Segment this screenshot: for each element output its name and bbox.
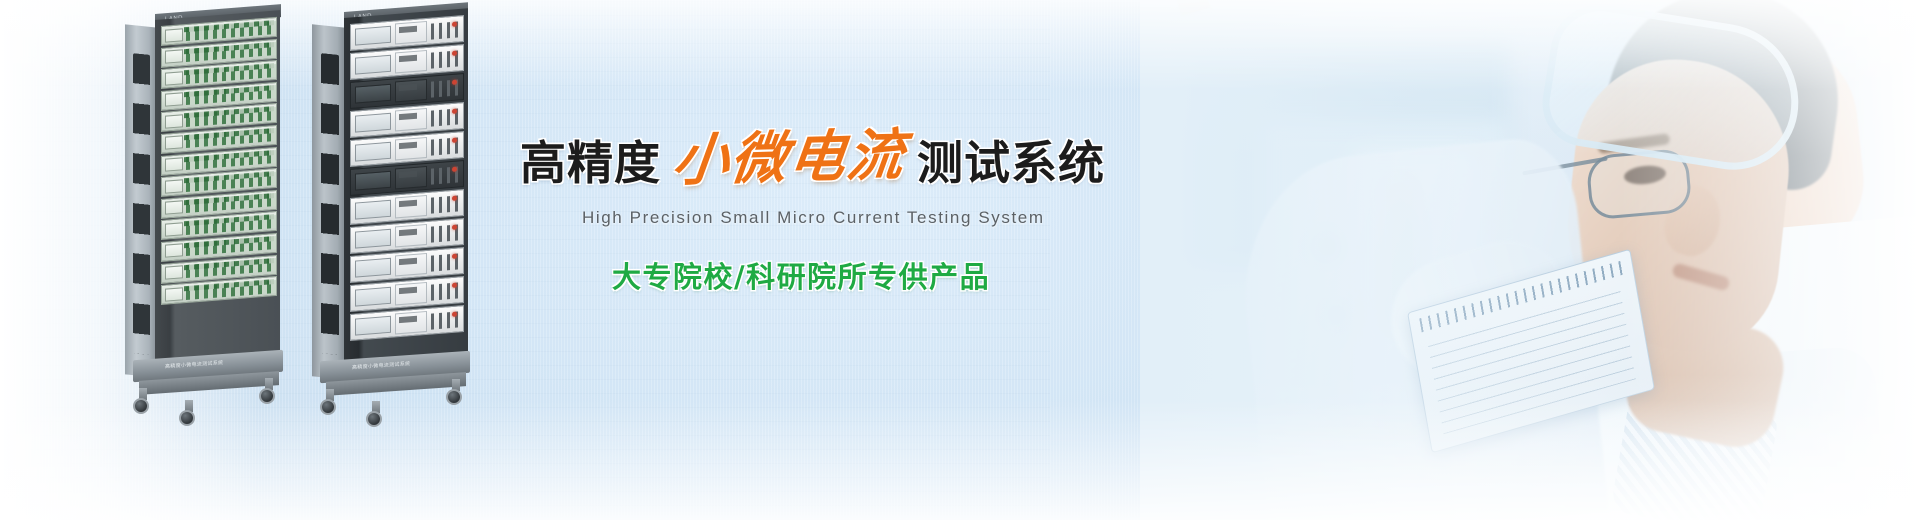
unit-panel	[395, 108, 427, 132]
equipment-rack-right: LAND 高精度小微电流测试系统	[312, 18, 467, 413]
unit-panel	[395, 195, 427, 219]
unit-display-icon	[165, 201, 183, 215]
unit-panel	[395, 79, 427, 103]
unit-panel	[395, 282, 427, 306]
unit-display-icon	[355, 258, 391, 278]
unit-panel	[395, 253, 427, 277]
rack-left-vent-holes	[133, 53, 150, 355]
banner-tagline: 大专院校/科研院所专供产品	[612, 254, 1160, 296]
unit-display-icon	[355, 287, 391, 307]
unit-panel	[395, 311, 427, 335]
rack-left-caster	[133, 398, 149, 414]
unit-display-icon	[165, 222, 183, 236]
top-edge-fade	[0, 0, 1920, 90]
rack-right-caster	[320, 399, 336, 415]
unit-display-icon	[165, 28, 183, 42]
unit-display-icon	[355, 200, 391, 220]
unit-display-icon	[165, 244, 183, 258]
banner-subtitle-english: High Precision Small Micro Current Testi…	[582, 208, 1160, 228]
unit-display-icon	[165, 287, 183, 301]
product-banner: LAND 高精度小微电流测试系统 LA	[0, 0, 1920, 520]
unit-display-icon	[355, 229, 391, 249]
rack-left-unit-stack	[161, 17, 277, 374]
headline-suffix: 测试系统	[917, 140, 1105, 186]
unit-display-icon	[165, 265, 183, 279]
banner-text-block: 高精度 小微电流 测试系统 High Precision Small Micro…	[520, 130, 1160, 296]
unit-display-icon	[165, 93, 183, 107]
banner-headline: 高精度 小微电流 测试系统	[520, 130, 1160, 186]
unit-panel	[395, 21, 427, 45]
headline-accent: 小微电流	[669, 127, 908, 189]
unit-display-icon	[355, 316, 391, 336]
bottom-edge-fade	[0, 400, 1920, 520]
rack-right-unit-stack	[350, 15, 464, 374]
unit-display-icon	[165, 136, 183, 150]
headline-prefix: 高精度	[520, 140, 661, 186]
unit-panel	[395, 166, 427, 190]
unit-panel	[395, 224, 427, 248]
unit-display-icon	[355, 26, 391, 46]
unit-display-icon	[355, 55, 391, 75]
unit-display-icon	[165, 71, 183, 85]
unit-panel	[395, 137, 427, 161]
rack-left-caster	[179, 410, 195, 426]
unit-display-icon	[355, 142, 391, 162]
unit-display-icon	[165, 157, 183, 171]
unit-display-icon	[355, 171, 391, 191]
unit-display-icon	[355, 84, 391, 104]
rack-left-caster	[259, 388, 275, 404]
rack-right-caster	[366, 411, 382, 427]
equipment-rack-left: LAND 高精度小微电流测试系统	[125, 20, 280, 410]
unit-panel	[395, 50, 427, 74]
rack-right-vent-holes	[321, 53, 339, 355]
unit-display-icon	[165, 179, 183, 193]
unit-display-icon	[355, 113, 391, 133]
unit-display-icon	[165, 114, 183, 128]
unit-display-icon	[165, 49, 183, 63]
rack-right-caster	[446, 389, 462, 405]
